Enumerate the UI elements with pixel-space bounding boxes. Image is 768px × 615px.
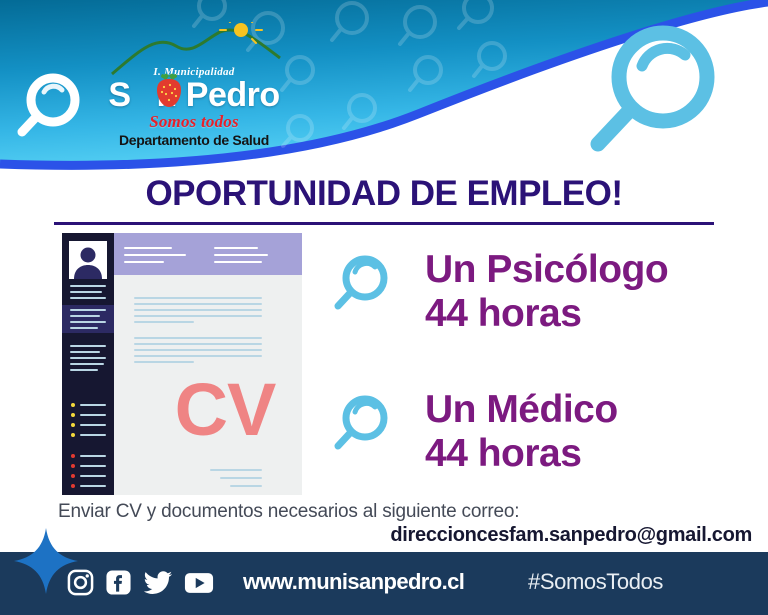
- cv-sidebar-line: [80, 404, 106, 406]
- employment-opportunity-poster: I. Municipalidad Sn Pedro Somos todos De…: [0, 0, 768, 615]
- cv-body-line: [134, 315, 262, 317]
- cv-body-line: [210, 469, 262, 471]
- cv-body-line: [134, 337, 262, 339]
- cv-sidebar-line: [70, 363, 104, 365]
- cv-bullet-dot: [71, 484, 75, 488]
- twitter-icon[interactable]: [143, 569, 173, 596]
- cv-sidebar-line: [80, 465, 106, 467]
- cv-body-line: [230, 485, 262, 487]
- cv-body-line: [134, 309, 262, 311]
- cv-header-line: [214, 247, 258, 249]
- cv-bullet-dot: [71, 423, 75, 427]
- job-line-2: 44 horas: [425, 292, 581, 335]
- logo-name: Sn Pedro: [84, 77, 304, 113]
- magnifier-icon: [578, 22, 728, 162]
- municipality-logo: I. Municipalidad Sn Pedro Somos todos De…: [84, 22, 304, 140]
- cv-sidebar-line: [70, 309, 106, 311]
- job-line-2: 44 horas: [425, 432, 581, 475]
- magnifier-icon: [330, 394, 390, 456]
- cv-sidebar-line: [80, 475, 106, 477]
- cv-body-line: [134, 321, 194, 323]
- cv-body-line: [134, 343, 262, 345]
- cv-sidebar-line: [80, 434, 106, 436]
- cv-header-line: [124, 261, 164, 263]
- cv-header-line: [124, 254, 186, 256]
- cv-sidebar-line: [80, 414, 106, 416]
- cv-bullet-dot: [71, 474, 75, 478]
- cv-bullet-dot: [71, 454, 75, 458]
- job-line-1: Un Médico: [425, 388, 618, 431]
- cv-body-line: [134, 355, 262, 357]
- magnifier-icon: [330, 254, 390, 316]
- job-title-medico: Un Médico 44 horas: [425, 388, 618, 476]
- cv-sidebar-line: [70, 297, 106, 299]
- facebook-icon[interactable]: [105, 569, 132, 596]
- user-avatar-icon: [69, 241, 107, 279]
- contact-email[interactable]: direccioncesfam.sanpedro@gmail.com: [0, 524, 752, 547]
- cv-word: CV: [150, 373, 300, 447]
- social-links: [67, 569, 214, 596]
- logo-slogan: Somos todos: [84, 112, 304, 132]
- cv-body-line: [134, 361, 194, 363]
- strawberry-icon: [154, 72, 184, 110]
- cv-sidebar-line: [70, 291, 102, 293]
- cv-bullet-dot: [71, 433, 75, 437]
- cv-bullet-dot: [71, 413, 75, 417]
- footer-hashtag: #SomosTodos: [528, 569, 663, 595]
- cv-body-line: [134, 349, 262, 351]
- cv-sidebar-line: [70, 369, 98, 371]
- footer-website[interactable]: www.munisanpedro.cl: [243, 569, 464, 595]
- cv-header-line: [124, 247, 172, 249]
- job-title-psicologo: Un Psicólogo 44 horas: [425, 248, 668, 336]
- logo-department: Departamento de Salud: [84, 132, 304, 148]
- cv-sidebar-line: [70, 357, 106, 359]
- cv-sidebar-line: [70, 351, 100, 353]
- cv-bullet-dot: [71, 403, 75, 407]
- page-title: OPORTUNIDAD DE EMPLEO!: [0, 174, 768, 214]
- cv-body-line: [134, 297, 262, 299]
- cv-body-line: [220, 477, 262, 479]
- cv-sidebar-line: [70, 327, 98, 329]
- cv-header-line: [214, 254, 268, 256]
- cv-sidebar-line: [80, 424, 106, 426]
- cv-sidebar-line: [70, 321, 106, 323]
- cv-body-line: [134, 303, 262, 305]
- cv-sidebar-line: [80, 455, 106, 457]
- cv-bullet-dot: [71, 464, 75, 468]
- cv-sidebar-line: [70, 315, 100, 317]
- cv-document-illustration: CV: [62, 233, 302, 495]
- instagram-icon[interactable]: [67, 569, 94, 596]
- youtube-icon[interactable]: [184, 571, 214, 595]
- cv-header-line: [214, 261, 262, 263]
- job-line-1: Un Psicólogo: [425, 248, 668, 291]
- cv-sidebar-line: [80, 485, 106, 487]
- cv-sidebar-line: [70, 285, 106, 287]
- cv-sidebar-line: [70, 345, 106, 347]
- instructions-text: Enviar CV y documentos necesarios al sig…: [58, 501, 758, 523]
- header-banner: I. Municipalidad Sn Pedro Somos todos De…: [0, 0, 768, 172]
- title-divider: [54, 222, 714, 225]
